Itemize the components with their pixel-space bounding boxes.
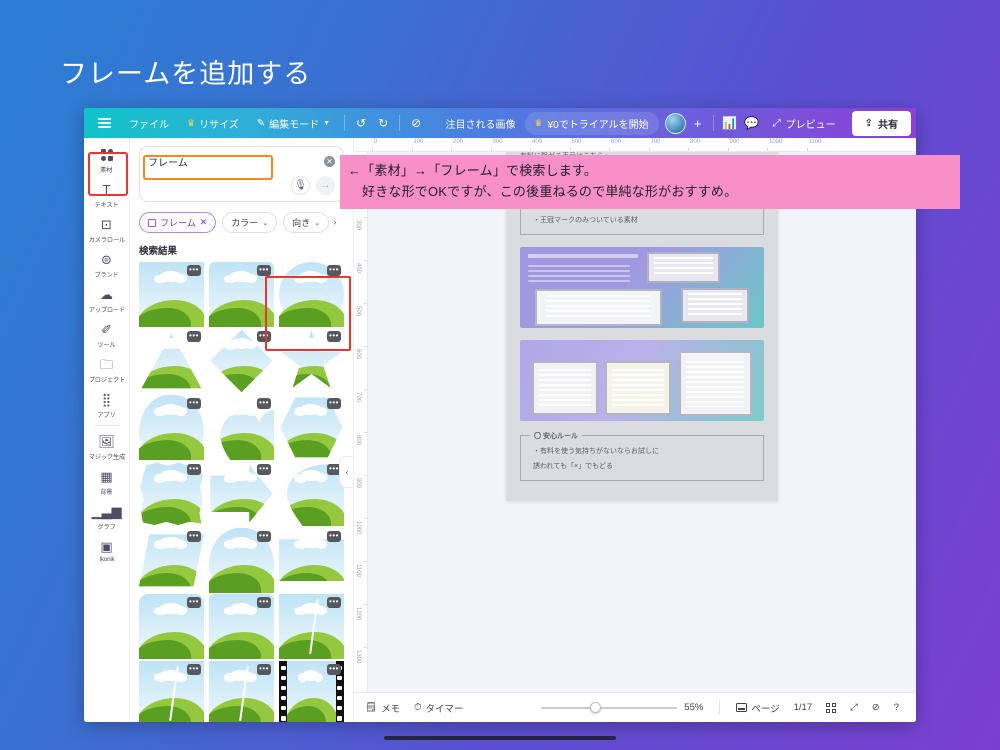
grid-view-button[interactable] — [819, 699, 843, 717]
check-circle-icon: ⊘ — [872, 702, 880, 713]
ruler-mark — [807, 148, 808, 151]
edit-mode-menu[interactable]: ✎ 編集モード ▼ — [248, 112, 339, 135]
cloud-shape — [230, 338, 252, 349]
chip-frame[interactable]: フレーム ✕ — [139, 212, 216, 233]
mic-icon[interactable]: 🎙 — [291, 176, 310, 195]
timer-icon: ⏱ — [414, 702, 421, 713]
cloud-shape — [300, 603, 322, 614]
ruler-tick-label-v: 900 — [355, 478, 361, 488]
sidebar-item-upload[interactable]: ☁ アップロード — [85, 282, 129, 317]
sidebar-item-tools[interactable]: ✐ ツール — [85, 317, 129, 352]
crown-icon-trial: ♛ — [535, 118, 543, 129]
page-title: フレームを追加する — [60, 52, 311, 91]
zoom-slider-knob[interactable] — [590, 702, 601, 713]
sidebar-item-camera-roll[interactable]: ⊡ カメラロール — [85, 212, 129, 247]
thumb-more-button[interactable]: ••• — [327, 597, 341, 608]
ruler-tick-label: 1100 — [809, 139, 822, 145]
cloud-check-icon[interactable]: ⊘ — [405, 112, 427, 134]
cloud-shape — [300, 470, 322, 481]
results-grid: ••••••••••••••••••••••••••••••••••••••••… — [130, 262, 353, 722]
crown-icon: ♛ — [187, 118, 195, 129]
check-button[interactable]: ⊘ — [865, 698, 887, 717]
slide-2-shot-b — [605, 361, 671, 414]
frame-crack-1[interactable]: ••• — [279, 594, 344, 659]
search-input[interactable]: フレーム — [148, 154, 324, 169]
sidebar-item-elements[interactable]: 素材 — [85, 142, 129, 177]
sidebar-item-text[interactable]: T テキスト — [85, 177, 129, 212]
ruler-mark — [728, 148, 729, 151]
frame-film-strip[interactable]: ••• — [279, 661, 344, 722]
ruler-tick-label-v: 1300 — [355, 650, 361, 663]
ruler-mark — [530, 148, 531, 151]
resize-menu[interactable]: ♛ リサイズ — [178, 112, 248, 135]
frame-parallelogram[interactable]: ••• — [139, 528, 204, 593]
text-icon: T — [103, 182, 111, 197]
ruler-tick-label-v: 800 — [355, 435, 361, 445]
frame-hexagon[interactable]: ••• — [279, 395, 344, 460]
top-toolbar: ファイル ♛ リサイズ ✎ 編集モード ▼ ↺ ↻ ⊘ 注目される画像 ♛ ¥0… — [84, 108, 916, 138]
chip-remove-icon[interactable]: ✕ — [200, 217, 208, 228]
chevron-down-icon-orientation: ⌄ — [314, 219, 320, 227]
sidebar-item-brand[interactable]: ⊜ ブランド — [85, 247, 129, 282]
thumb-more-button[interactable]: ••• — [257, 597, 271, 608]
search-panel: フレーム ✕ 🎙 → フレーム ✕ カラー ⌄ — [130, 138, 354, 722]
ruler-mark-v — [364, 604, 367, 605]
ruler-mark-v — [364, 518, 367, 519]
canvas-scroll[interactable]: 有料に繋がるボタンは「Pro」で統一 有料に繋がる表示はこちら」 ・「Proを試… — [368, 152, 916, 692]
frame-crack-3[interactable]: ••• — [209, 661, 274, 722]
ruler-mark-v — [364, 260, 367, 261]
cloud-shape — [300, 271, 322, 282]
embedded-slide-2[interactable] — [520, 340, 764, 421]
apps-icon: ⣿ — [102, 392, 112, 407]
cloud-shape — [300, 338, 322, 349]
file-menu[interactable]: ファイル — [120, 112, 178, 135]
frame-triangle[interactable]: ••• — [139, 328, 204, 393]
canvas-area: 010020030040050060070080090010001100 200… — [354, 138, 916, 722]
frame-arrow[interactable]: ••• — [209, 461, 274, 526]
help-button[interactable]: ? — [887, 698, 906, 717]
ruler-mark-v — [364, 475, 367, 476]
thumb-more-button[interactable]: ••• — [187, 265, 201, 276]
cloud-shape — [230, 470, 252, 481]
thumb-more-button[interactable]: ••• — [187, 597, 201, 608]
fullscreen-icon: ⤢ — [850, 702, 858, 713]
zoom-level[interactable]: 55% — [677, 698, 710, 717]
slide-1-text-lines — [528, 265, 630, 285]
thumb-more-button[interactable]: ••• — [327, 664, 341, 675]
comment-icon[interactable]: 💬 — [741, 112, 763, 134]
embedded-slide-1[interactable] — [520, 247, 764, 328]
ruler-tick-label: 200 — [453, 139, 463, 145]
sidebar-item-background[interactable]: ▦ 背景 — [85, 464, 129, 499]
ruler-mark-v — [364, 346, 367, 347]
frame-square[interactable]: ••• — [139, 262, 204, 327]
ruler-tick-label: 300 — [493, 139, 503, 145]
hill-dark — [139, 440, 191, 460]
thumb-more-button[interactable]: ••• — [327, 398, 341, 409]
panel-collapse-button[interactable]: ‹ — [339, 456, 354, 488]
zoom-slider[interactable] — [541, 701, 677, 715]
cloud-shape — [230, 670, 252, 681]
slide-1-title-bar — [528, 254, 638, 258]
thumb-more-button[interactable]: ••• — [327, 331, 341, 342]
cloud-shape — [160, 537, 182, 548]
ruler-tick-label-v: 1200 — [355, 607, 361, 620]
pages-button[interactable]: ページ — [729, 697, 786, 719]
expand-icon: ⤢ — [773, 118, 781, 129]
slide-1-shot-a — [647, 252, 720, 283]
upload-cloud-icon: ☁ — [100, 287, 113, 302]
featured-image-label[interactable]: 注目される画像 — [437, 112, 525, 135]
grid-view-icon — [826, 703, 836, 713]
frame-star[interactable]: ••• — [279, 328, 344, 393]
thumb-more-button[interactable]: ••• — [327, 265, 341, 276]
background-icon: ▦ — [100, 469, 112, 484]
chips-more-icon[interactable]: › — [333, 217, 336, 228]
frame-heart[interactable]: ••• — [209, 395, 274, 460]
sidebar-item-chart[interactable]: ▁▃▆ グラフ — [85, 499, 129, 534]
ruler-mark-v — [364, 303, 367, 304]
frame-wide-rect[interactable]: ••• — [279, 528, 344, 593]
ruler-tick-label-v: 300 — [355, 220, 361, 230]
toolbar-divider-2 — [399, 115, 400, 131]
slide-2-shot-a — [532, 361, 598, 414]
sidebar-item-ikonik[interactable]: ▣ Ikonik — [85, 534, 129, 566]
elements-icon — [101, 147, 113, 162]
insights-icon[interactable]: 📊 — [719, 112, 741, 134]
add-collaborator-button[interactable]: + — [688, 113, 708, 133]
slide-2-shot-c — [679, 351, 752, 416]
ruler-mark-v — [364, 647, 367, 648]
ruler-mark — [688, 148, 689, 151]
frame-rounded-2[interactable]: ••• — [209, 594, 274, 659]
cloud-shape — [160, 603, 182, 614]
tools-icon: ✐ — [101, 322, 112, 337]
clear-icon[interactable]: ✕ — [324, 156, 335, 167]
slide-1-shot-b — [535, 289, 662, 326]
hill-light — [279, 366, 344, 393]
frame-rounded-1[interactable]: ••• — [139, 594, 204, 659]
chip-orientation[interactable]: 向き ⌄ — [283, 212, 329, 233]
cloud-shape — [230, 271, 252, 282]
toolbar-divider — [344, 115, 345, 131]
ruler-tick-label-v: 400 — [355, 263, 361, 273]
redo-button[interactable]: ↻ — [372, 112, 394, 134]
film-perforations-left — [279, 661, 287, 722]
horizontal-ruler[interactable]: 010020030040050060070080090010001100 — [354, 138, 916, 152]
ruler-tick-label-v: 1100 — [355, 564, 361, 577]
rail-divider — [94, 425, 120, 426]
frame-icon — [148, 219, 156, 227]
ruler-mark-v — [364, 561, 367, 562]
home-indicator — [384, 736, 616, 740]
ruler-mark — [372, 148, 373, 151]
camera-icon: ⊡ — [101, 217, 112, 232]
cloud-shape — [160, 670, 182, 681]
pencil-icon: ✎ — [257, 118, 265, 129]
thumb-more-button[interactable]: ••• — [187, 331, 201, 342]
ruler-tick-label-v: 600 — [355, 349, 361, 359]
bottom-divider — [719, 700, 720, 715]
sidebar-item-apps[interactable]: ⣿ アプリ — [85, 387, 129, 422]
chevron-down-icon-color: ⌄ — [262, 219, 268, 227]
vertical-ruler[interactable]: 2003004005006007008009001000110012001300 — [354, 152, 368, 692]
cloud-shape — [160, 470, 182, 481]
ruler-tick-label-v: 1000 — [355, 521, 361, 534]
ruler-tick-label: 1000 — [769, 139, 782, 145]
frame-pin[interactable]: ••• — [279, 461, 344, 526]
ruler-tick-label: 600 — [611, 139, 621, 145]
fullscreen-button[interactable]: ⤢ — [843, 698, 865, 717]
thumb-more-button[interactable]: ••• — [327, 531, 341, 542]
rule-line: ・有料を使う気持ちがないならお試しに — [533, 446, 751, 456]
app-body: 素材 T テキスト ⊡ カメラロール ⊜ ブランド ☁ アップロード ✐ ツール — [84, 138, 916, 722]
results-label: 検索結果 — [130, 233, 353, 262]
cloud-shape — [160, 271, 182, 282]
frame-crack-2[interactable]: ••• — [139, 661, 204, 722]
cloud-shape — [300, 404, 322, 415]
toolbar-divider-3 — [713, 115, 714, 131]
chip-color[interactable]: カラー ⌄ — [222, 212, 277, 233]
ruler-tick-label: 800 — [690, 139, 700, 145]
avatar[interactable] — [665, 113, 686, 134]
ruler-mark — [767, 148, 768, 151]
ruler-tick-label-v: 500 — [355, 306, 361, 316]
left-rail: 素材 T テキスト ⊡ カメラロール ⊜ ブランド ☁ アップロード ✐ ツール — [84, 138, 130, 722]
frame-cloud[interactable]: ••• — [139, 395, 204, 460]
hill-dark — [279, 440, 331, 460]
menu-button[interactable] — [89, 114, 120, 132]
magic-media-icon: 🖼 — [98, 434, 115, 449]
thumb-more-button[interactable]: ••• — [257, 331, 271, 342]
thumb-more-button[interactable]: ••• — [187, 664, 201, 675]
thumb-more-button[interactable]: ••• — [257, 531, 271, 542]
thumb-more-button[interactable]: ••• — [187, 464, 201, 475]
frame-diamond[interactable]: ••• — [209, 328, 274, 393]
annotation-line-1: ←「素材」→「フレーム」で検索します。 — [348, 160, 952, 181]
zoom-slider-track — [541, 707, 677, 709]
frame-scalloped[interactable]: ••• — [139, 461, 204, 526]
ikonik-icon: ▣ — [100, 539, 112, 554]
ruler-mark — [649, 148, 650, 151]
chart-bar-icon: ▁▃▆ — [92, 504, 122, 519]
ruler-tick-label: 500 — [572, 139, 582, 145]
ruler-mark-v — [364, 432, 367, 433]
ruler-mark — [451, 148, 452, 151]
ruler-tick-label: 0 — [374, 139, 377, 145]
rule-box-caption: 〇 安心ルール — [530, 431, 582, 441]
sidebar-item-projects[interactable]: 🗀 プロジェクト — [85, 352, 129, 387]
ruler-tick-label: 400 — [532, 139, 542, 145]
chevron-down-icon: ▼ — [323, 120, 330, 127]
search-input-row: フレーム ✕ — [148, 154, 335, 169]
frame-circle[interactable]: ••• — [279, 262, 344, 327]
list-item: ・王冠マークのみついている素材 — [533, 215, 751, 225]
ruler-tick-label: 100 — [414, 139, 424, 145]
thumb-more-button[interactable]: ••• — [187, 531, 201, 542]
thumb-more-button[interactable]: ••• — [257, 464, 271, 475]
frame-cloud-2[interactable]: ••• — [209, 528, 274, 593]
share-button[interactable]: ⇪ 共有 — [852, 111, 911, 136]
rule-box: 〇 安心ルール ・有料を使う気持ちがないならお試しに 誘われても「×」でもどる — [520, 435, 764, 481]
annotation-banner: ←「素材」→「フレーム」で検索します。 好きな形でOKですが、この後重ねるので単… — [340, 155, 960, 209]
ruler-mark-v — [364, 217, 367, 218]
hill-light — [209, 499, 274, 526]
page-indicator: 1/17 — [787, 698, 820, 717]
ruler-tick-label: 700 — [651, 139, 661, 145]
bottom-toolbar: 🗒 メモ ⏱ タイマー 55% ページ 1/17 — [354, 692, 916, 722]
start-trial-button[interactable]: ♛ ¥0でトライアルを開始 — [525, 112, 659, 135]
cloud-shape — [230, 404, 252, 415]
frame-rounded-square[interactable]: ••• — [209, 262, 274, 327]
ruler-tick-label: 900 — [730, 139, 740, 145]
ruler-mark — [609, 148, 610, 151]
thumb-more-button[interactable]: ••• — [257, 265, 271, 276]
search-box[interactable]: フレーム ✕ 🎙 → — [139, 146, 344, 202]
annotation-line-2: 好きな形でOKですが、この後重ねるので単純な形がおすすめ。 — [348, 181, 952, 202]
search-actions: 🎙 → — [148, 176, 335, 195]
cloud-shape — [300, 537, 322, 548]
ruler-body: 2003004005006007008009001000110012001300… — [354, 152, 916, 692]
folder-icon: 🗀 — [100, 357, 113, 372]
slide-1-shot-c — [681, 288, 749, 324]
thumb-more-button[interactable]: ••• — [257, 664, 271, 675]
ruler-tick-label-v: 700 — [355, 392, 361, 402]
ruler-mark — [570, 148, 571, 151]
thumb-more-button[interactable]: ••• — [187, 398, 201, 409]
ruler-mark — [412, 148, 413, 151]
page-icon — [736, 703, 747, 712]
help-icon: ? — [894, 702, 899, 713]
thumb-more-button[interactable]: ••• — [257, 398, 271, 409]
preview-button[interactable]: ⤢ プレビュー — [763, 112, 846, 135]
timer-button[interactable]: ⏱ タイマー — [407, 697, 470, 719]
brand-icon: ⊜ — [101, 252, 112, 267]
cloud-shape — [160, 404, 182, 415]
ruler-mark-v — [364, 389, 367, 390]
sidebar-item-magic-media[interactable]: 🖼 マジック生成 — [85, 429, 129, 464]
share-upload-icon: ⇪ — [865, 118, 873, 129]
notes-button[interactable]: 🗒 メモ — [358, 697, 407, 719]
cloud-shape — [230, 537, 252, 548]
hamburger-icon — [98, 118, 111, 128]
arrow-right-icon[interactable]: → — [316, 176, 335, 195]
undo-button[interactable]: ↺ — [350, 112, 372, 134]
ruler-mark — [491, 148, 492, 151]
rule-line: 誘われても「×」でもどる — [533, 461, 751, 471]
cloud-shape — [160, 338, 182, 349]
cloud-shape — [230, 603, 252, 614]
notes-icon: 🗒 — [365, 702, 377, 713]
filter-chips: フレーム ✕ カラー ⌄ 向き ⌄ › — [130, 202, 353, 233]
